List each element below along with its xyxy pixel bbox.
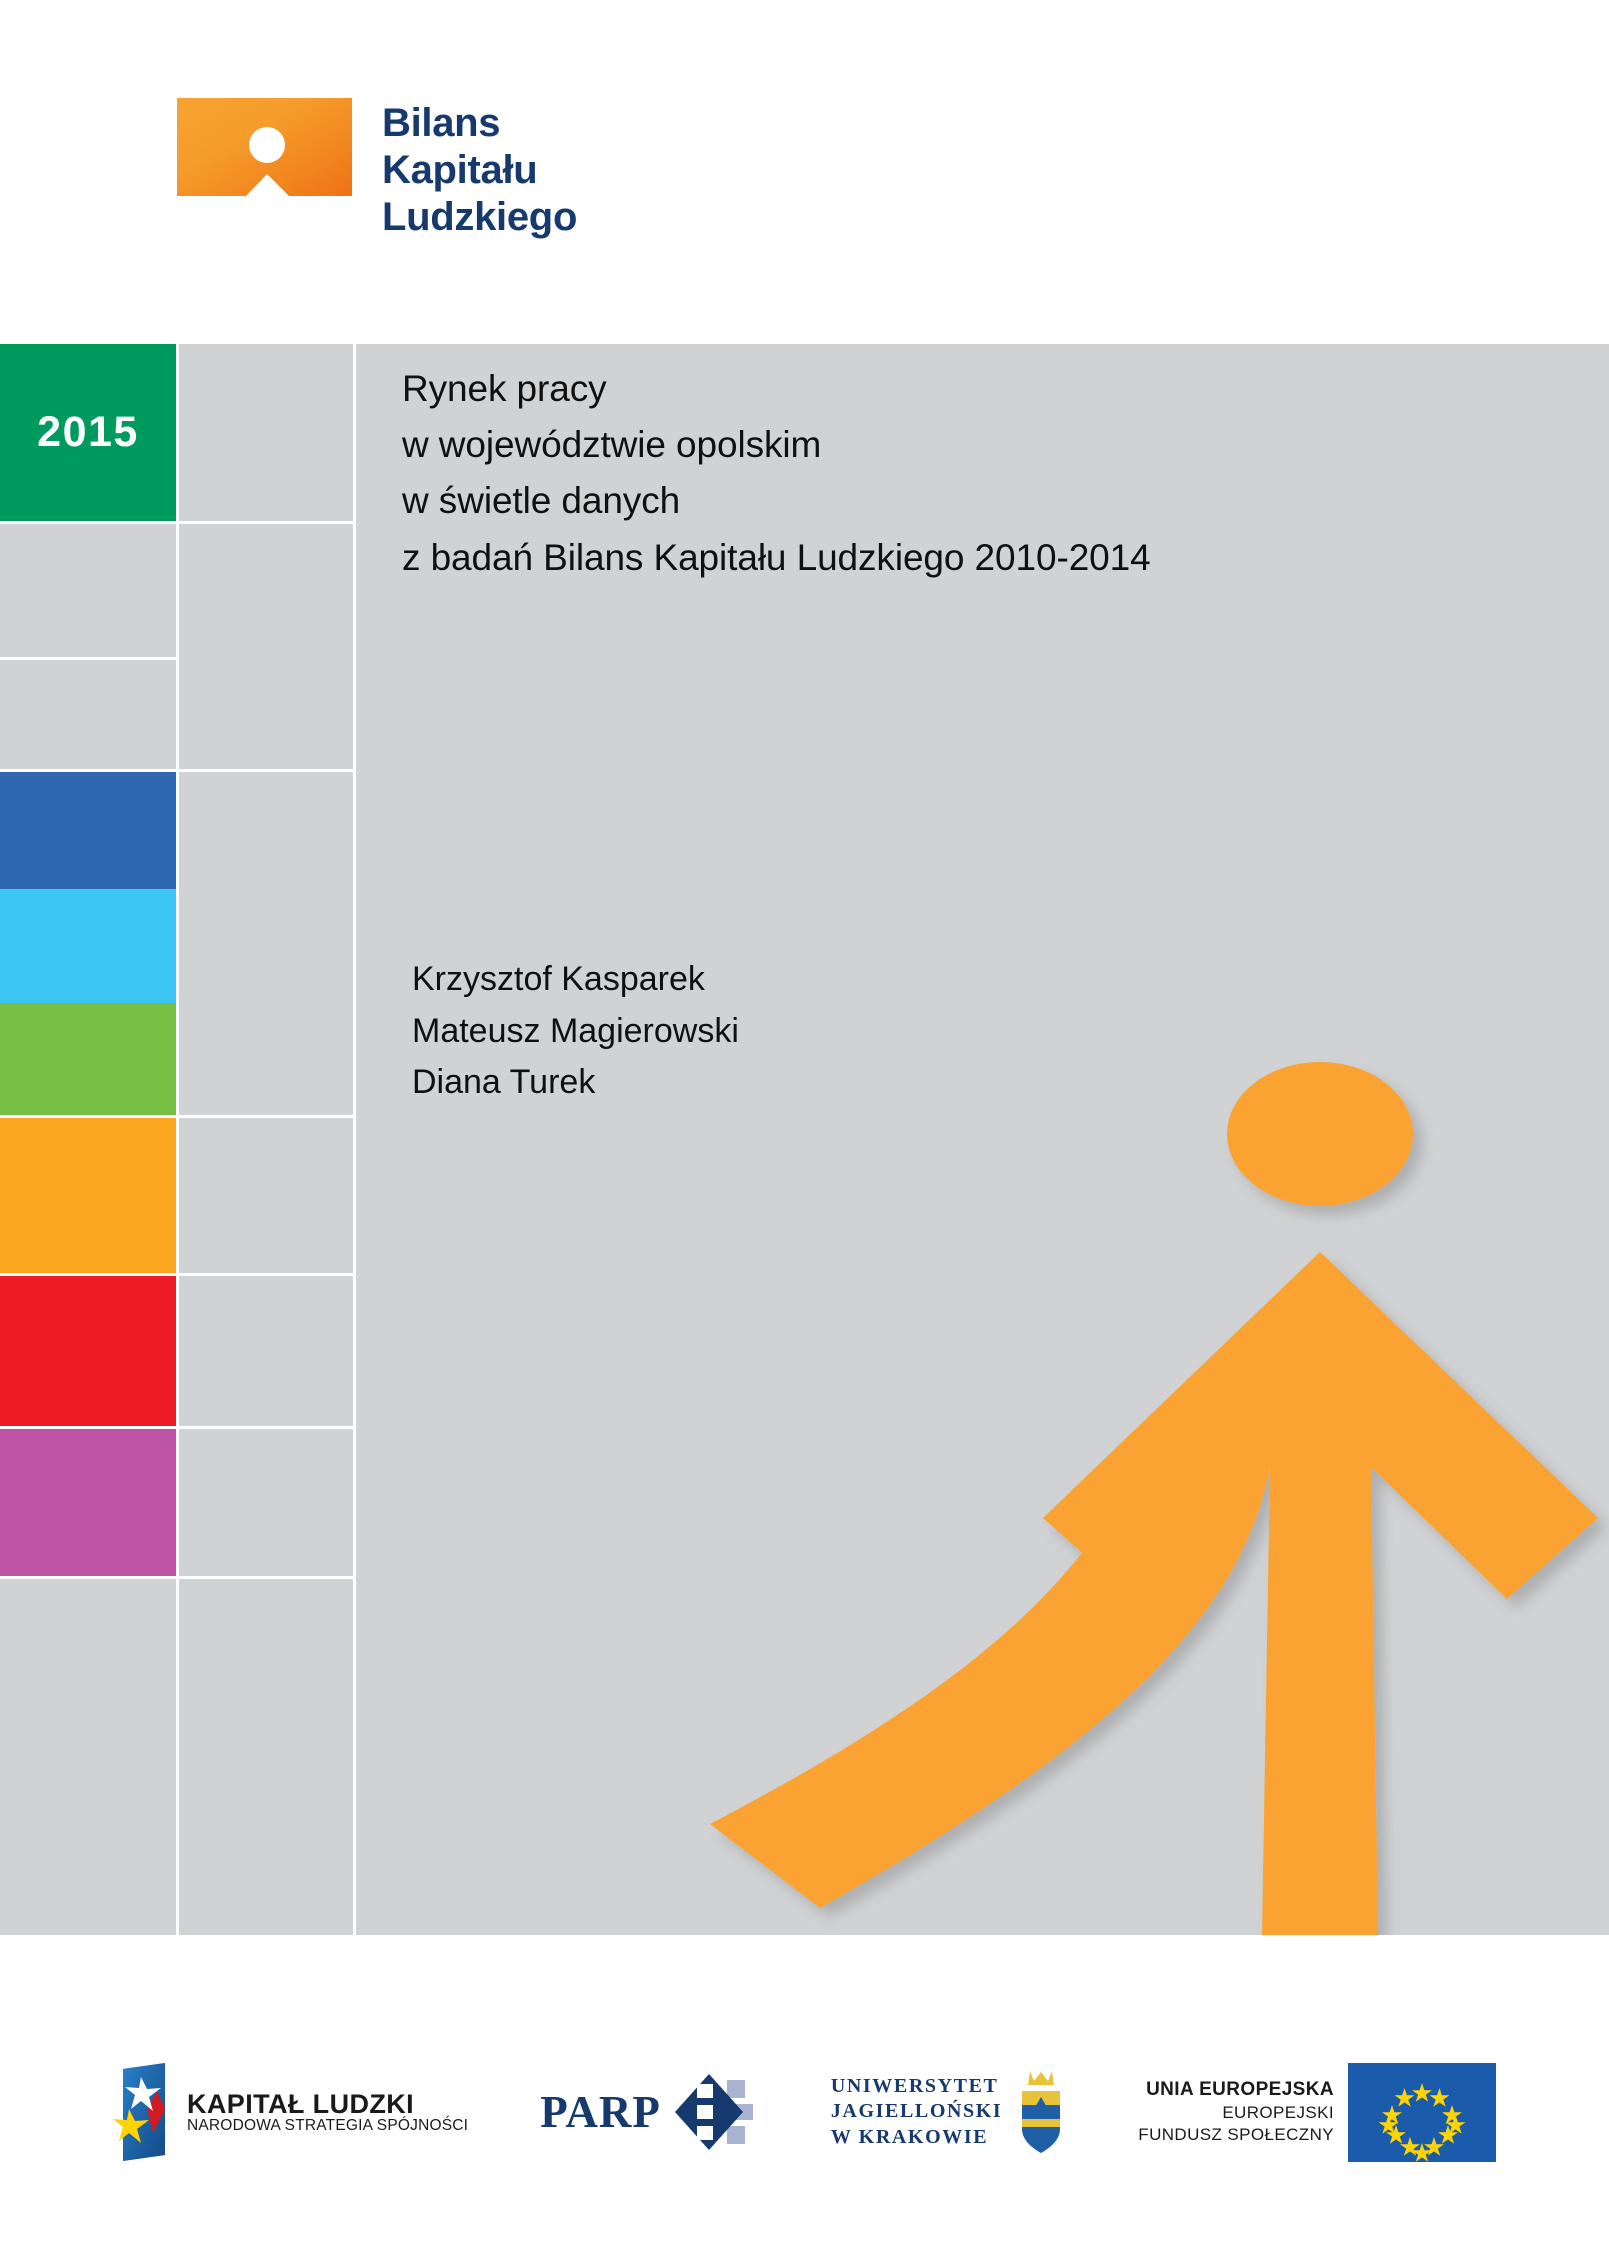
person-arrow-icon	[177, 98, 352, 196]
title-line-4: z badań Bilans Kapitału Ludzkiego 2010-2…	[402, 530, 1482, 586]
kapital-ludzki-subtitle: NARODOWA STRATEGIA SPÓJNOŚCI	[187, 2118, 468, 2134]
uj-line-2: JAGIELLOŃSKI	[831, 2099, 1002, 2125]
eu-logo: UNIA EUROPEJSKA EUROPEJSKI FUNDUSZ SPOŁE…	[1138, 2063, 1496, 2162]
uj-line-1: UNIWERSYTET	[831, 2074, 1002, 2100]
footer-logo-bar: KAPITAŁ LUDZKI NARODOWA STRATEGIA SPÓJNO…	[0, 2042, 1609, 2182]
title-line-3: w świetle danych	[402, 473, 1482, 529]
eu-text: UNIA EUROPEJSKA EUROPEJSKI FUNDUSZ SPOŁE…	[1138, 2078, 1334, 2147]
swatch-red	[0, 1276, 176, 1426]
parp-diamond-icon	[675, 2074, 759, 2150]
uj-logo: UNIWERSYTET JAGIELLOŃSKI W KRAKOWIE	[831, 2069, 1066, 2155]
author-3: Diana Turek	[412, 1057, 1212, 1109]
swatch-green	[0, 1003, 176, 1115]
eu-flag-icon	[1348, 2063, 1496, 2162]
uj-line-3: W KRAKOWIE	[831, 2125, 1002, 2151]
author-1: Krzysztof Kasparek	[412, 954, 1212, 1006]
swatch-light-blue	[0, 889, 176, 1003]
gridline-horizontal-9	[0, 1576, 353, 1579]
uj-text: UNIWERSYTET JAGIELLOŃSKI W KRAKOWIE	[831, 2074, 1002, 2151]
swatch-blue	[0, 772, 176, 889]
title-line-1: Rynek pracy	[402, 361, 1482, 417]
brand-wordmark: Bilans Kapitału Ludzkiego	[382, 98, 577, 242]
swatch-orange	[0, 1118, 176, 1273]
page-title: Rynek pracy w województwie opolskim w św…	[402, 361, 1482, 586]
kapital-ludzki-text: KAPITAŁ LUDZKI NARODOWA STRATEGIA SPÓJNO…	[187, 2090, 468, 2135]
swatch-magenta	[0, 1429, 176, 1576]
year-label: 2015	[37, 408, 139, 457]
orange-person-arrow-figure	[700, 1034, 1609, 1935]
cover-panel: 2015 Rynek pracy w województwie opolskim…	[0, 344, 1609, 1935]
author-list: Krzysztof Kasparek Mateusz Magierowski D…	[412, 954, 1212, 1109]
brand-header: Bilans Kapitału Ludzkiego	[177, 98, 577, 242]
gridline-horizontal-2	[0, 657, 176, 660]
parp-logo: PARP	[540, 2074, 759, 2150]
kapital-ludzki-title: KAPITAŁ LUDZKI	[187, 2090, 468, 2118]
kapital-ludzki-stars-icon	[113, 2063, 173, 2161]
gridline-vertical-1	[176, 344, 179, 1935]
gridline-vertical-2	[353, 344, 356, 1935]
eu-line-1: UNIA EUROPEJSKA	[1146, 2078, 1334, 2103]
brand-line-2: Kapitału	[382, 147, 577, 194]
kapital-ludzki-logo: KAPITAŁ LUDZKI NARODOWA STRATEGIA SPÓJNO…	[113, 2063, 468, 2161]
parp-wordmark: PARP	[540, 2086, 661, 2138]
gridline-horizontal-1	[0, 521, 353, 524]
brand-line-1: Bilans	[382, 100, 577, 147]
brand-line-3: Ludzkiego	[382, 194, 577, 241]
author-2: Mateusz Magierowski	[412, 1006, 1212, 1058]
title-line-2: w województwie opolskim	[402, 417, 1482, 473]
year-badge: 2015	[0, 344, 176, 521]
eu-line-3: FUNDUSZ SPOŁECZNY	[1138, 2124, 1334, 2146]
uj-crest-icon	[1016, 2069, 1066, 2155]
eu-line-2: EUROPEJSKI	[1222, 2102, 1334, 2124]
